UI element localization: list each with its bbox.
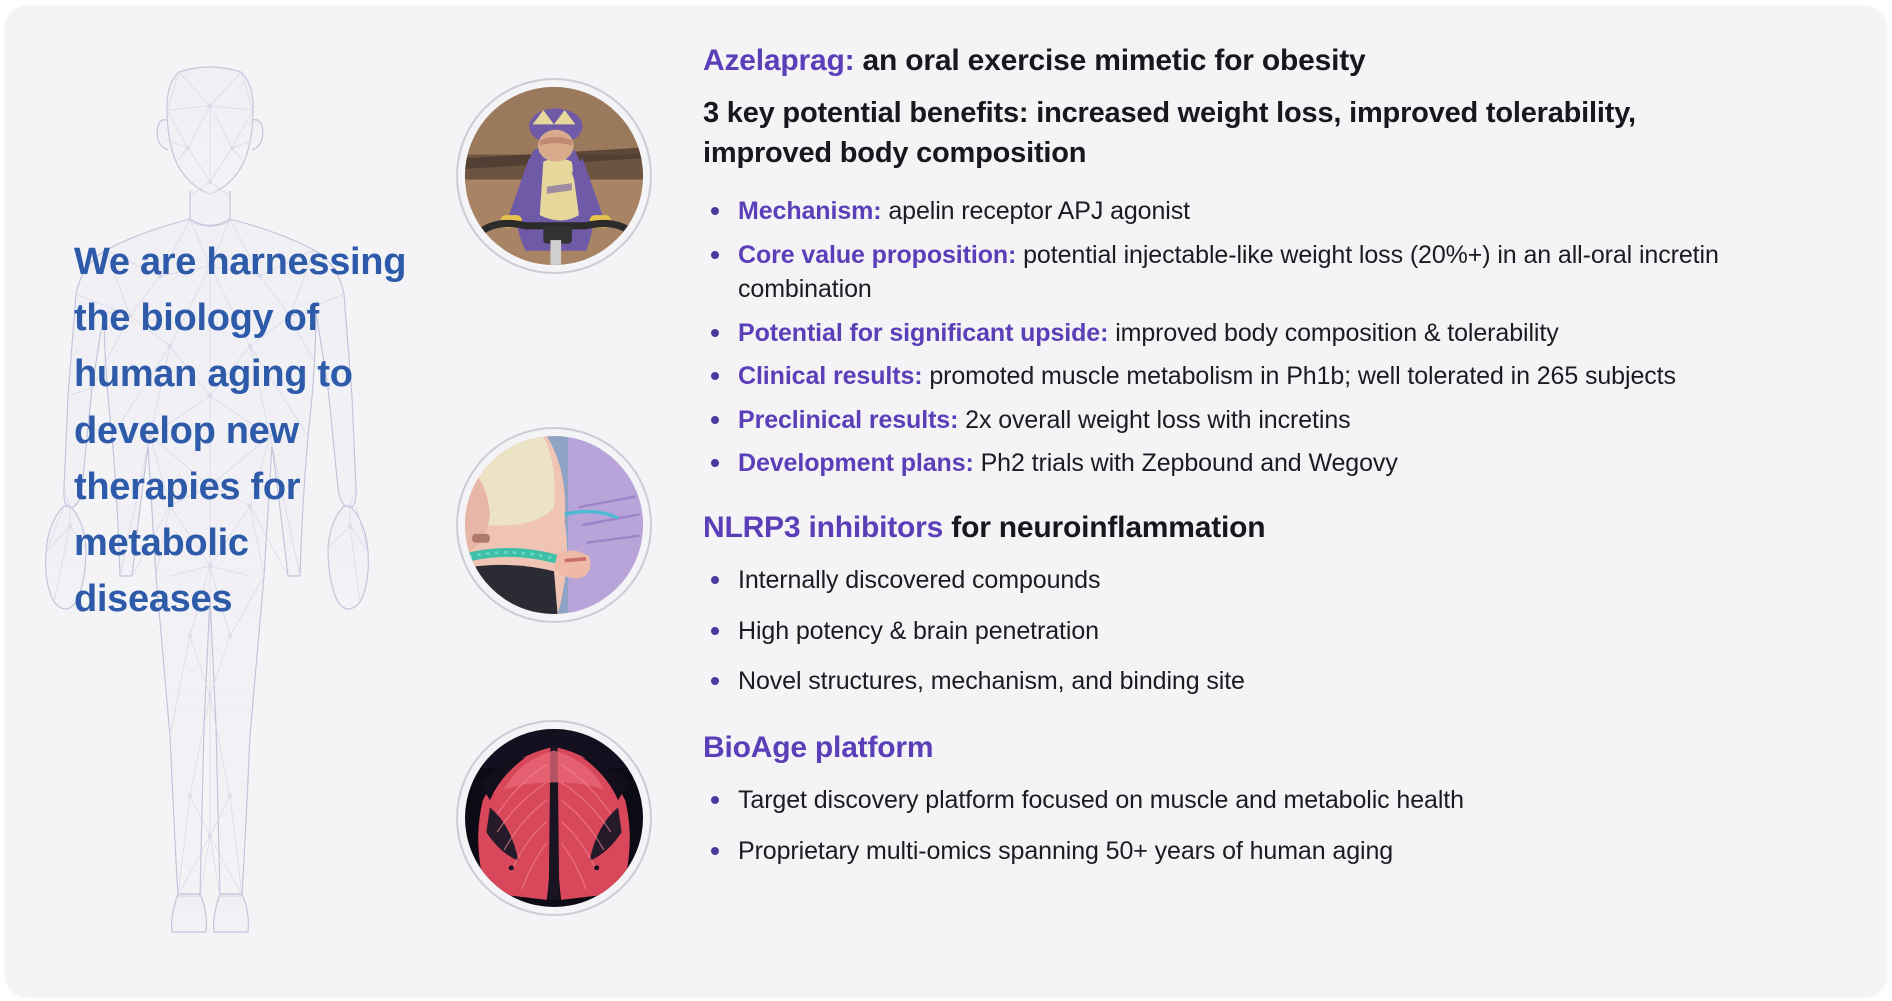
bullet-label: Potential for significant upside: [738, 319, 1108, 347]
list-item: Clinical results: promoted muscle metabo… [703, 359, 1853, 394]
list-item: High potency & brain penetration [703, 614, 1853, 649]
bullet-label: Clinical results: [738, 362, 922, 390]
list-item: Development plans: Ph2 trials with Zepbo… [703, 446, 1853, 481]
bullet-label: Core value proposition: [738, 241, 1016, 269]
azelaprag-section-title: Azelaprag: an oral exercise mimetic for … [703, 42, 1853, 80]
bullet-text: Target discovery platform focused on mus… [738, 786, 1464, 814]
photo-waist-measurement [456, 427, 652, 623]
bullet-dot-icon [711, 329, 719, 337]
bullet-dot-icon [711, 796, 719, 804]
photo-disc-waist [465, 436, 643, 614]
list-item: Internally discovered compounds [703, 563, 1853, 598]
azelaprag-bullet-list: Mechanism: apelin receptor APJ agonist C… [703, 194, 1853, 481]
bullet-text: promoted muscle metabolism in Ph1b; well… [922, 362, 1675, 390]
bullet-dot-icon [711, 627, 719, 635]
list-item: Potential for significant upside: improv… [703, 316, 1853, 351]
bioage-bullet-list: Target discovery platform focused on mus… [703, 783, 1853, 868]
list-item: Novel structures, mechanism, and binding… [703, 664, 1853, 699]
nlrp3-title-accent: NLRP3 inhibitors [703, 511, 943, 544]
left-panel: We are harnessing the biology of human a… [6, 6, 466, 995]
bullet-text: Proprietary multi-omics spanning 50+ yea… [738, 837, 1393, 865]
list-item: Target discovery platform focused on mus… [703, 783, 1853, 818]
bullet-dot-icon [711, 251, 719, 259]
list-item: Proprietary multi-omics spanning 50+ yea… [703, 834, 1853, 869]
photo-disc-muscle [465, 729, 643, 907]
bullet-text: High potency & brain penetration [738, 617, 1099, 645]
bullet-text: 2x overall weight loss with incretins [958, 406, 1350, 434]
list-item: Mechanism: apelin receptor APJ agonist [703, 194, 1853, 229]
list-item: Preclinical results: 2x overall weight l… [703, 403, 1853, 438]
bullet-dot-icon [711, 459, 719, 467]
bullet-dot-icon [711, 207, 719, 215]
nlrp3-bullet-list: Internally discovered compounds High pot… [703, 563, 1853, 699]
nlrp3-section-title: NLRP3 inhibitors for neuroinflammation [703, 509, 1853, 547]
content-column: Azelaprag: an oral exercise mimetic for … [703, 42, 1853, 884]
bullet-text: apelin receptor APJ agonist [881, 197, 1190, 225]
photo-disc-cyclist [465, 87, 643, 265]
slide-card: We are harnessing the biology of human a… [6, 6, 1886, 995]
bioage-section-title: BioAge platform [703, 729, 1853, 767]
list-item: Core value proposition: potential inject… [703, 238, 1853, 307]
photo-elderly-cyclist [456, 78, 652, 274]
bullet-label: Development plans: [738, 449, 974, 477]
bullet-dot-icon [711, 847, 719, 855]
bullet-text: Internally discovered compounds [738, 566, 1100, 594]
bullet-label: Mechanism: [738, 197, 881, 225]
nlrp3-title-rest: for neuroinflammation [943, 511, 1265, 544]
cyclist-image [465, 87, 643, 265]
bullet-text: Novel structures, mechanism, and binding… [738, 667, 1245, 695]
bioage-title-accent: BioAge platform [703, 731, 933, 764]
bullet-dot-icon [711, 576, 719, 584]
bullet-dot-icon [711, 372, 719, 380]
bullet-label: Preclinical results: [738, 406, 958, 434]
bullet-dot-icon [711, 416, 719, 424]
muscle-anatomy-image [465, 729, 643, 907]
bullet-dot-icon [711, 677, 719, 685]
azelaprag-lede: 3 key potential benefits: increased weig… [703, 94, 1663, 173]
azelaprag-title-accent: Azelaprag: [703, 44, 854, 77]
azelaprag-title-rest: an oral exercise mimetic for obesity [854, 44, 1365, 77]
waist-measurement-image [465, 436, 643, 614]
bullet-text: Ph2 trials with Zepbound and Wegovy [974, 449, 1398, 477]
bullet-text: improved body composition & tolerability [1108, 319, 1558, 347]
page-headline: We are harnessing the biology of human a… [74, 234, 414, 628]
photo-back-muscle-anatomy [456, 720, 652, 916]
